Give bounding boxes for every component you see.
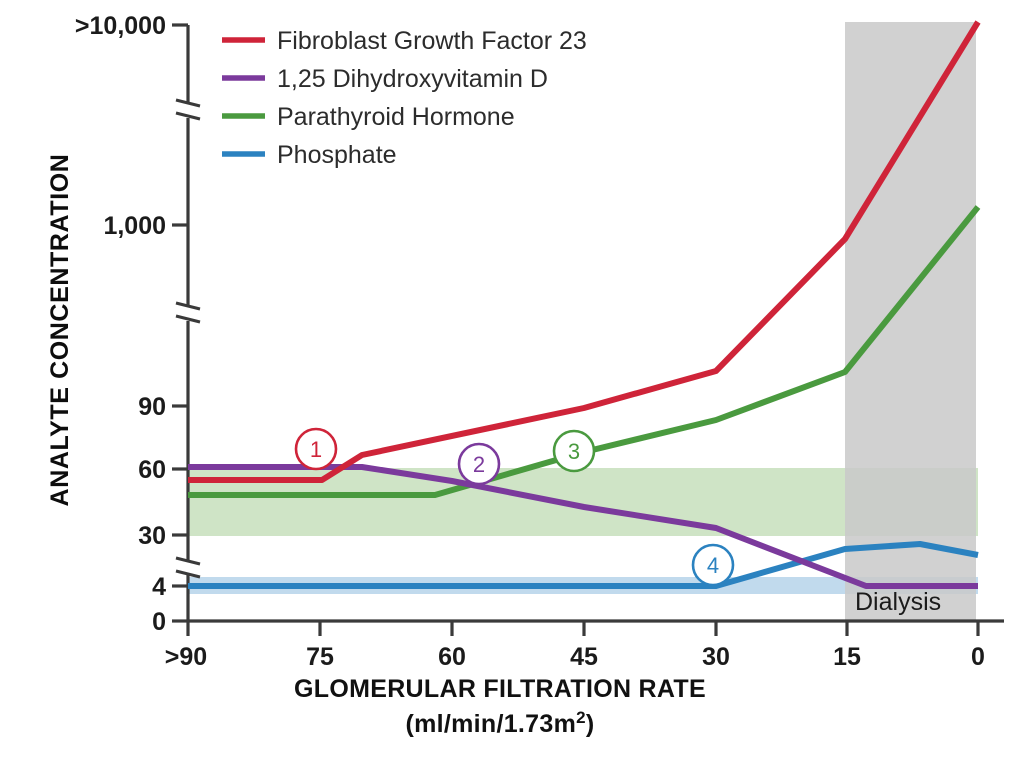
y-axis-title: ANALYTE CONCENTRATION [46, 154, 74, 507]
y-tick-label-5: 4 [152, 573, 166, 601]
chart-figure: >10,000 1,000 90 60 30 4 0 >90 75 60 45 … [0, 0, 1010, 771]
x-axis-units-superscript: 2 [576, 708, 586, 727]
x-tick-label-4: 30 [702, 643, 730, 671]
legend-label-fgf23: Fibroblast Growth Factor 23 [277, 27, 587, 55]
x-tick-label-1: 75 [306, 643, 334, 671]
dialysis-region [845, 22, 976, 620]
x-tick-label-3: 45 [570, 643, 598, 671]
legend-item-fgf23[interactable]: Fibroblast Growth Factor 23 [222, 27, 587, 55]
callout-marker-4[interactable]: 4 [693, 545, 733, 585]
legend-item-dihydroxyvitamin-d[interactable]: 1,25 Dihydroxyvitamin D [222, 65, 548, 93]
callout-marker-3-label: 3 [568, 439, 580, 464]
legend-label-dihydroxyvitamin-d: 1,25 Dihydroxyvitamin D [277, 65, 548, 93]
x-axis-units-close: ) [586, 710, 595, 738]
chart-svg: >10,000 1,000 90 60 30 4 0 >90 75 60 45 … [0, 0, 1010, 771]
legend-item-parathyroid-hormone[interactable]: Parathyroid Hormone [222, 103, 515, 131]
x-axis-units-main: (ml/min/1.73m [405, 710, 576, 738]
y-tick-label-2: 90 [138, 393, 166, 421]
callout-marker-4-label: 4 [707, 553, 719, 578]
callout-marker-2-label: 2 [473, 452, 485, 477]
x-axis-title-units: (ml/min/1.73m2) [405, 708, 594, 739]
x-axis-title: GLOMERULAR FILTRATION RATE [294, 675, 706, 703]
x-tick-label-6: 0 [971, 643, 985, 671]
y-tick-label-3: 60 [138, 456, 166, 484]
legend-item-phosphate[interactable]: Phosphate [222, 141, 397, 169]
legend-label-phosphate: Phosphate [277, 141, 397, 169]
y-tick-label-4: 30 [138, 522, 166, 550]
dialysis-label: Dialysis [855, 588, 941, 616]
y-tick-label-1: 1,000 [103, 212, 166, 240]
x-tick-label-5: 15 [833, 643, 861, 671]
callout-marker-1-label: 1 [310, 437, 322, 462]
callout-marker-3[interactable]: 3 [554, 431, 594, 471]
callout-marker-2[interactable]: 2 [459, 444, 499, 484]
x-tick-label-2: 60 [438, 643, 466, 671]
legend-label-parathyroid-hormone: Parathyroid Hormone [277, 103, 515, 131]
x-tick-label-0: >90 [165, 643, 207, 671]
y-tick-label-6: 0 [152, 608, 166, 636]
legend: Fibroblast Growth Factor 23 1,25 Dihydro… [222, 27, 587, 169]
y-tick-label-0: >10,000 [75, 12, 166, 40]
callout-marker-1[interactable]: 1 [296, 429, 336, 469]
x-tick-marks [188, 621, 978, 636]
